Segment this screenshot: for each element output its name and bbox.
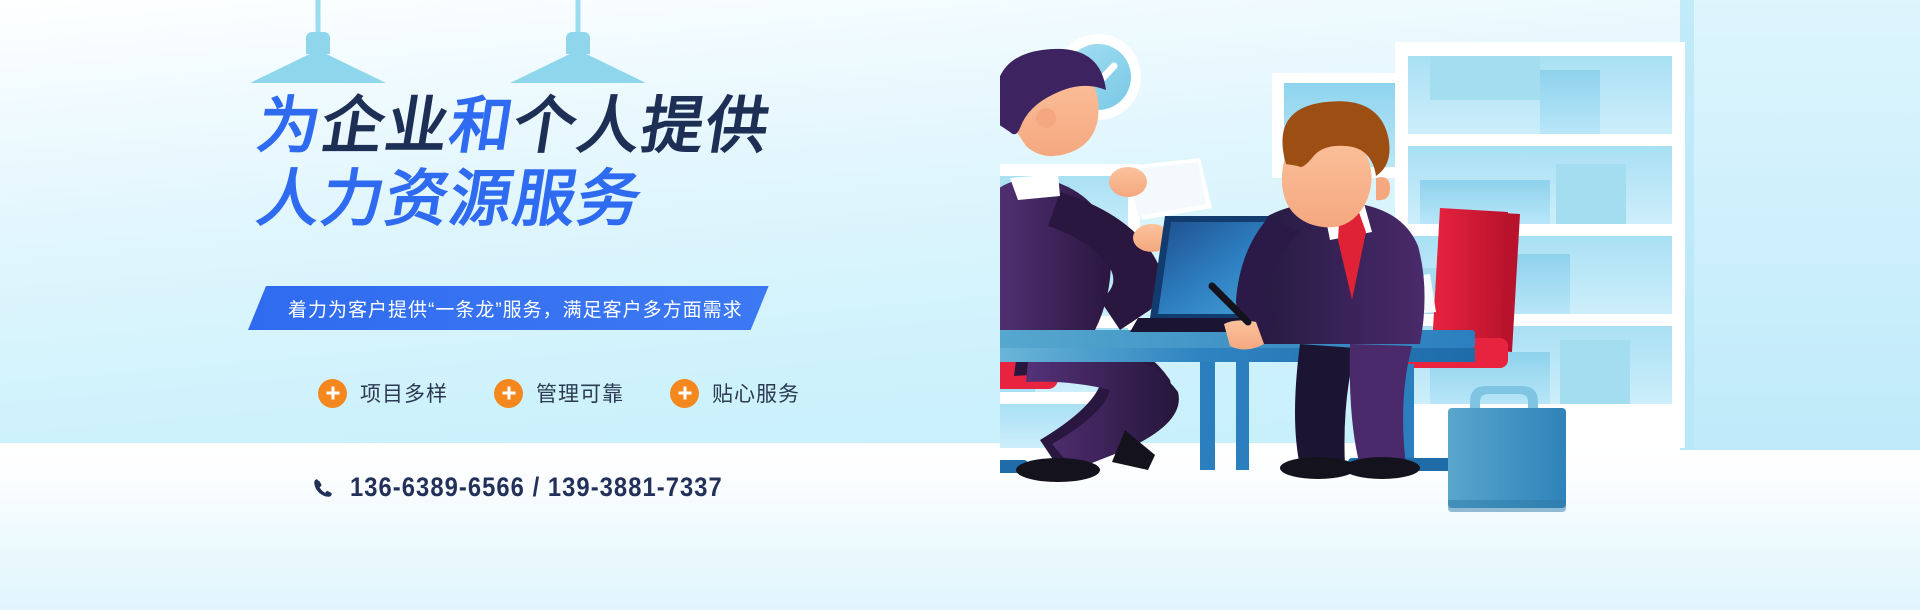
lamp-shade <box>250 50 386 83</box>
headline-seg: 个人 <box>509 92 648 161</box>
feature-label: 贴心服务 <box>712 378 800 408</box>
office-meeting-illustration <box>1000 0 1920 610</box>
headline-seg: 和 <box>445 92 520 161</box>
lamp-cord <box>576 0 581 34</box>
subtitle-ribbon: 着力为客户提供“一条龙”服务，满足客户多方面需求 <box>248 286 769 330</box>
contact-phone[interactable]: 136-6389-6566 / 139-3881-7337 <box>312 472 774 503</box>
feature-label: 管理可靠 <box>536 378 624 408</box>
headline-line-2: 人力资源服务 <box>253 169 775 231</box>
wall-panel <box>1680 0 1920 450</box>
feature-item[interactable]: 管理可靠 <box>494 378 624 408</box>
feature-item[interactable]: 项目多样 <box>318 378 448 408</box>
phone-number: 136-6389-6566 / 139-3881-7337 <box>350 472 723 503</box>
lamp-shade <box>510 50 646 83</box>
phone-icon <box>312 476 334 500</box>
plus-icon <box>670 379 699 408</box>
plus-icon <box>318 379 347 408</box>
headline: 为企业和个人提供 人力资源服务 <box>258 96 770 231</box>
headline-seg: 为 <box>253 92 328 161</box>
subtitle-text: 着力为客户提供“一条龙”服务，满足客户多方面需求 <box>288 295 743 322</box>
plus-icon <box>494 379 523 408</box>
feature-list: 项目多样 管理可靠 贴心服务 <box>318 378 800 408</box>
hero-banner: 为企业和个人提供 人力资源服务 着力为客户提供“一条龙”服务，满足客户多方面需求… <box>0 0 1920 610</box>
lamp-cord <box>316 0 321 34</box>
headline-line-1: 为企业和个人提供 <box>253 96 775 158</box>
feature-label: 项目多样 <box>360 378 448 408</box>
headline-seg: 提供 <box>637 92 776 161</box>
feature-item[interactable]: 贴心服务 <box>670 378 800 408</box>
headline-seg: 企业 <box>317 92 456 161</box>
